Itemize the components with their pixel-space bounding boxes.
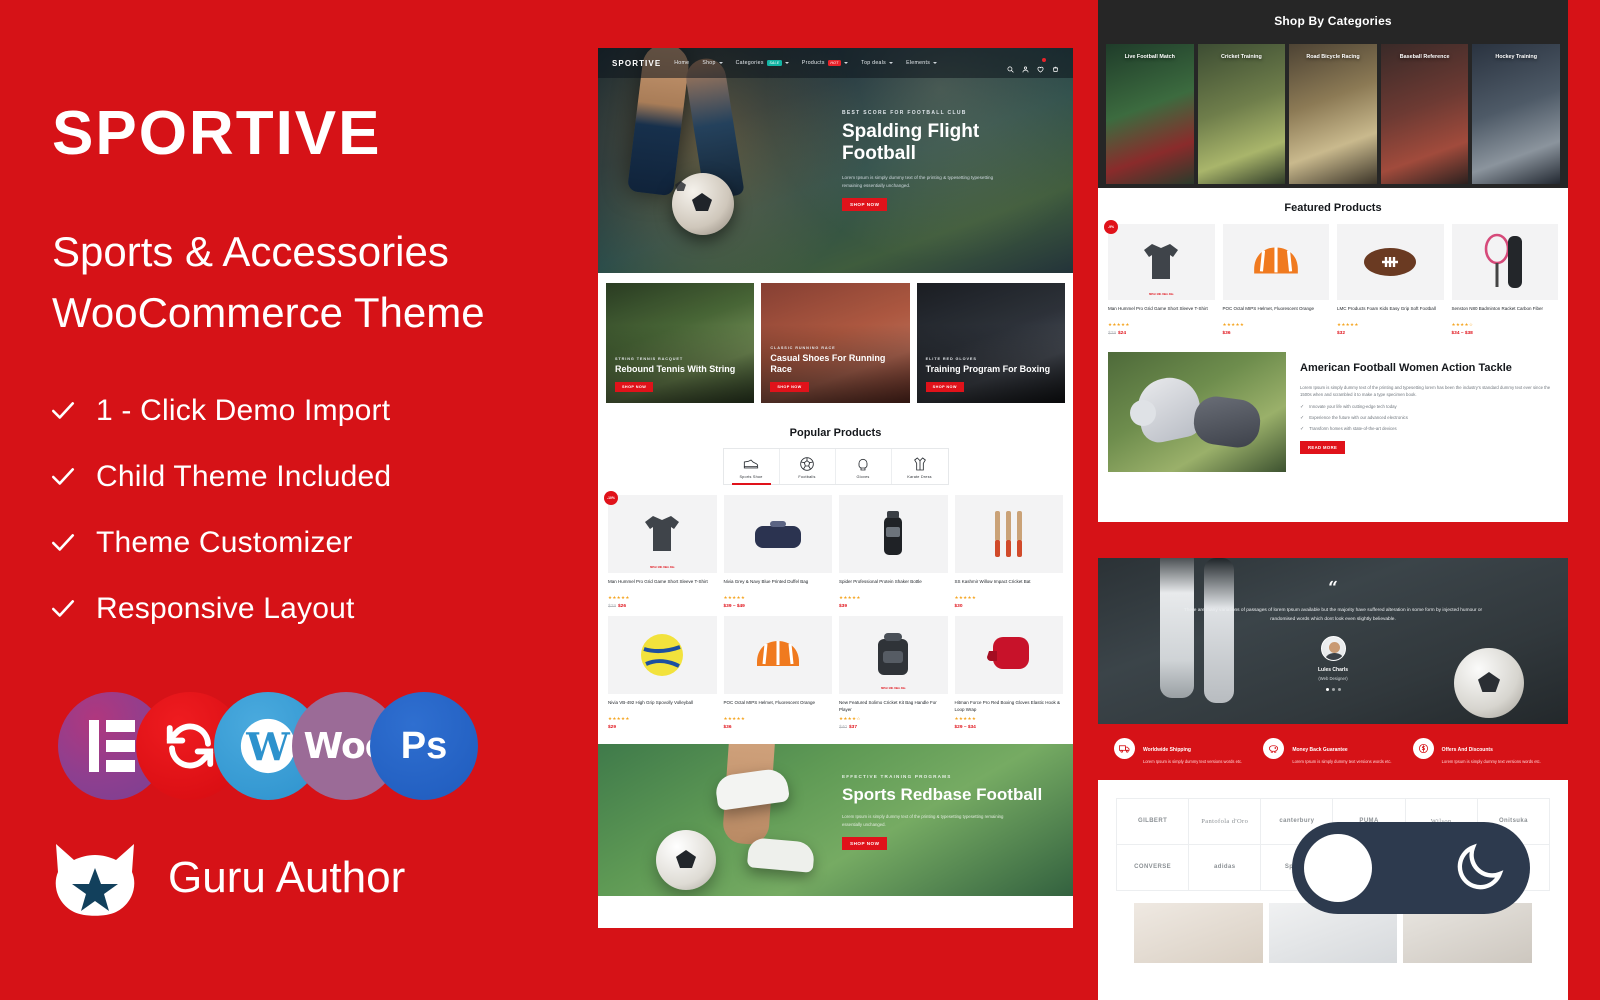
- testimonial-preview[interactable]: “ There are many variations of passages …: [1098, 558, 1568, 1000]
- banner-title: American Football Women Action Tackle: [1300, 362, 1552, 376]
- rating-stars: ★★★★★: [1223, 322, 1330, 328]
- rating-stars: ★★★★☆: [1452, 322, 1559, 328]
- site-logo[interactable]: SPORTIVE: [612, 59, 661, 68]
- category-row: Live Football Match Cricket Training Roa…: [1098, 28, 1568, 184]
- service-description: Lorem Ipsum is simply dummy text version…: [1143, 759, 1242, 766]
- promo-kicker: CLASSIC RUNNING RACE: [770, 346, 901, 350]
- truck-icon: [1114, 738, 1135, 759]
- shop-by-categories-section: Shop By Categories Live Football Match C…: [1098, 0, 1568, 188]
- wishlist-count-dot: [1042, 58, 1046, 62]
- sale-badge: SALE: [767, 60, 782, 66]
- banner-image: [1108, 352, 1286, 472]
- hero-banner: BEST SCORE FOR FOOTBALL CLUB Spalding Fl…: [598, 48, 1073, 273]
- product-name: LMC Products Foam Kids Easy Grip Soft Fo…: [1337, 306, 1444, 319]
- promo-kicker: ELITE RED GLOVES: [926, 357, 1057, 361]
- product-name: Hitman Force Pro Red Boxing Gloves Elast…: [955, 700, 1064, 713]
- product-card[interactable]: 605d 10h 09m 49s New Featured Solimo Cri…: [839, 616, 948, 730]
- nav-label: Home: [674, 60, 689, 66]
- promo-card[interactable]: STRING TENNIS RACQUET Rebound Tennis Wit…: [606, 283, 754, 403]
- dark-mode-toggle[interactable]: [1292, 822, 1530, 914]
- football-icon: [782, 455, 833, 472]
- chevron-down-icon: [719, 62, 723, 64]
- product-thumbnail: [955, 616, 1064, 694]
- feature-label: Theme Customizer: [96, 526, 353, 560]
- hero-title: Spalding Flight Football: [842, 121, 1057, 166]
- product-thumbnail: [955, 495, 1064, 573]
- nav-label: Products: [802, 60, 825, 66]
- list-item: ✓Experience the future with our advanced…: [1300, 415, 1552, 421]
- promo-kicker: STRING TENNIS RACQUET: [615, 357, 746, 361]
- tab-label: Karate Dress: [894, 475, 946, 479]
- product-thumbnail: -9% 605d 10h 09m 49s: [1108, 224, 1215, 300]
- categories-title: Shop By Categories: [1098, 14, 1568, 28]
- cta-title: Sports Redbase Football: [842, 785, 1057, 805]
- rating-stars: ★★★★★: [724, 716, 833, 722]
- promo-shop-now-button[interactable]: SHOP NOW: [770, 382, 808, 392]
- countdown-value: 605d 10h 09m 49s: [881, 686, 906, 690]
- author-label: Guru Author: [168, 853, 405, 903]
- category-label: Hockey Training: [1472, 54, 1560, 60]
- list-item: ✓Transform homes with state-of-the-art d…: [1300, 426, 1552, 432]
- nav-item-top-deals[interactable]: Top deals: [861, 60, 893, 66]
- promo-title: Casual Shoes For Running Race: [770, 353, 901, 375]
- tab-label: Sports Shoe: [726, 475, 777, 479]
- product-name: Man Hummel Pro Grid Game Short Sleeve T-…: [608, 579, 717, 592]
- product-card[interactable]: Senston N80 Badminton Racket Carbon Fibe…: [1452, 224, 1559, 336]
- moon-icon: [1450, 839, 1508, 897]
- left-info-panel: SPORTIVE Sports & Accessories WooCommerc…: [0, 0, 598, 1000]
- promo-card[interactable]: ELITE RED GLOVES Training Program For Bo…: [917, 283, 1065, 403]
- tab-label: Footballs: [782, 475, 833, 479]
- hot-badge: HOT: [828, 60, 841, 66]
- chevron-down-icon: [844, 62, 848, 64]
- carousel-dot[interactable]: [1326, 688, 1329, 691]
- cta-shoe-illustration: [714, 767, 790, 811]
- feature-label: 1 - Click Demo Import: [96, 394, 390, 428]
- check-icon: [50, 398, 76, 424]
- search-icon[interactable]: [1007, 60, 1014, 67]
- list-item: Theme Customizer: [50, 510, 570, 576]
- discount-icon: [1413, 738, 1434, 759]
- product-name: POC Octal MIPS Helmet, Fluorescent Orang…: [724, 700, 833, 713]
- product-name: SS Kashmir Willow Impact Cricket Bat: [955, 579, 1064, 592]
- brand-logo[interactable]: CONVERSE: [1117, 845, 1189, 891]
- promo-card-row: STRING TENNIS RACQUET Rebound Tennis Wit…: [598, 273, 1073, 413]
- cta-copy: EFFECTIVE TRAINING PROGRAMS Sports Redba…: [842, 774, 1057, 850]
- product-name: Nivia Grey & Navy Blue Printed Duffel Ba…: [724, 579, 833, 592]
- piggy-bank-icon: [1263, 738, 1284, 759]
- banner-copy: American Football Women Action Tackle Lo…: [1286, 352, 1558, 472]
- rating-stars: ★★★★★: [839, 595, 948, 601]
- product-name: Spider Professional Protein Shaker Bottl…: [839, 579, 948, 592]
- category-card[interactable]: Cricket Training: [1198, 44, 1286, 184]
- product-thumbnail: [608, 616, 717, 694]
- rating-stars: ★★★★★: [608, 595, 717, 601]
- cart-icon[interactable]: [1052, 60, 1059, 67]
- feature-list: 1 - Click Demo Import Child Theme Includ…: [50, 378, 570, 642]
- service-description: Lorem Ipsum is simply dummy text version…: [1442, 759, 1541, 766]
- rating-stars: ★★★★★: [608, 716, 717, 722]
- current-price: $26: [618, 604, 626, 609]
- account-icon[interactable]: [1022, 60, 1029, 67]
- product-card[interactable]: SS Kashmir Willow Impact Cricket Bat ★★★…: [955, 495, 1064, 609]
- product-card[interactable]: -9% 605d 10h 09m 49s Man Hummel Pro Grid…: [1108, 224, 1215, 336]
- nav-label: Shop: [702, 60, 715, 66]
- page-subtitle: Sports & Accessories WooCommerce Theme: [52, 222, 572, 344]
- product-category-tabs: Sports Shoe Footballs Gloves Karate Dres…: [598, 448, 1073, 485]
- product-price: $29 – $34: [955, 725, 1064, 730]
- ps-label: Ps: [401, 725, 447, 768]
- product-price: $39 – $49: [724, 604, 833, 609]
- promo-shop-now-button[interactable]: SHOP NOW: [926, 382, 964, 392]
- brand-logo[interactable]: adidas: [1189, 845, 1261, 891]
- read-more-button[interactable]: READ MORE: [1300, 441, 1345, 454]
- tab-footballs[interactable]: Footballs: [780, 449, 836, 484]
- product-card[interactable]: POC Octal MIPS Helmet, Fluorescent Orang…: [1223, 224, 1330, 336]
- product-thumbnail: [1452, 224, 1559, 300]
- product-name: New Featured Solimo Cricket Kit Bag Hand…: [839, 700, 948, 713]
- carousel-dots[interactable]: [1326, 688, 1341, 691]
- testimonial-role: (Web Designer): [1318, 676, 1347, 681]
- promo-copy: CLASSIC RUNNING RACE Casual Shoes For Ru…: [770, 346, 901, 393]
- category-card[interactable]: Road Bicycle Racing: [1289, 44, 1377, 184]
- sale-badge: -9%: [1104, 220, 1118, 234]
- chevron-down-icon: [933, 62, 937, 64]
- category-card[interactable]: Hockey Training: [1472, 44, 1560, 184]
- service-item: Money Back Guarantee Lorem Ipsum is simp…: [1263, 738, 1402, 766]
- check-icon: [50, 596, 76, 622]
- homepage-preview[interactable]: SPORTIVE Home Shop CategoriesSALE Produc…: [598, 48, 1073, 928]
- list-item: Responsive Layout: [50, 576, 570, 642]
- testimonial-name: Lules Charls: [1318, 667, 1348, 673]
- cta-football-illustration: [656, 830, 716, 890]
- rating-stars: ★★★★★: [1337, 322, 1444, 328]
- category-label: Road Bicycle Racing: [1289, 54, 1377, 60]
- current-price: $24: [1118, 331, 1126, 336]
- envato-cat-icon: [48, 838, 142, 918]
- product-thumbnail: [724, 616, 833, 694]
- old-price: $29: [1108, 331, 1116, 336]
- product-price: $29$26: [608, 604, 717, 609]
- check-icon: [50, 464, 76, 490]
- product-name: Nivia VB-492 High Grip Spovolly Volleyba…: [608, 700, 717, 713]
- rating-stars: ★★★★★: [724, 595, 833, 601]
- product-price: $36: [724, 725, 833, 730]
- category-card[interactable]: Live Football Match: [1106, 44, 1194, 184]
- product-thumbnail: [1223, 224, 1330, 300]
- check-label: Innovate your life with cutting-edge tec…: [1309, 404, 1396, 409]
- service-title: Money Back Guarantee: [1292, 747, 1347, 753]
- photoshop-icon: Ps: [370, 692, 478, 800]
- testimonial-section: “ There are many variations of passages …: [1098, 558, 1568, 724]
- promo-title: Training Program For Boxing: [926, 364, 1057, 375]
- featured-products-grid: -9% 605d 10h 09m 49s Man Hummel Pro Grid…: [1098, 224, 1568, 348]
- svg-text:W: W: [245, 725, 290, 770]
- nav-item-categories[interactable]: CategoriesSALE: [736, 60, 789, 66]
- hero-shop-now-button[interactable]: SHOP NOW: [842, 198, 887, 211]
- list-item: 1 - Click Demo Import: [50, 378, 570, 444]
- promo-title: Rebound Tennis With String: [615, 364, 746, 375]
- product-thumbnail: [1337, 224, 1444, 300]
- product-card[interactable]: Spider Professional Protein Shaker Bottl…: [839, 495, 948, 609]
- tab-label: Gloves: [838, 475, 889, 479]
- check-icon: ✓: [1300, 426, 1304, 432]
- rating-stars: ★★★★★: [955, 716, 1064, 722]
- product-thumbnail: [839, 495, 948, 573]
- cta-shoe2-illustration: [747, 837, 815, 873]
- check-icon: [50, 530, 76, 556]
- category-label: Cricket Training: [1198, 54, 1286, 60]
- brand-logo[interactable]: Pantofola d'Oro: [1189, 799, 1261, 845]
- hero-description: Lorem Ipsum is simply dummy text of the …: [842, 174, 1012, 190]
- check-icon: ✓: [1300, 415, 1304, 421]
- karate-icon: [894, 455, 946, 472]
- old-price: $29: [608, 604, 616, 609]
- nav-label: Elements: [906, 60, 930, 66]
- tab-sports-shoe[interactable]: Sports Shoe: [724, 449, 780, 484]
- product-card[interactable]: POC Octal MIPS Helmet, Fluorescent Orang…: [724, 616, 833, 730]
- testimonial-quote: There are many variations of passages of…: [1183, 606, 1483, 624]
- product-name: Man Hummel Pro Grid Game Short Sleeve T-…: [1108, 306, 1215, 319]
- service-item: Offers And Discounts Lorem Ipsum is simp…: [1413, 738, 1552, 766]
- hero-kicker: BEST SCORE FOR FOOTBALL CLUB: [842, 110, 1057, 116]
- tab-gloves[interactable]: Gloves: [836, 449, 892, 484]
- product-price: $32: [1337, 331, 1444, 336]
- carousel-dot[interactable]: [1332, 688, 1335, 691]
- product-card[interactable]: -10% 605d 10h 09m 49s Man Hummel Pro Gri…: [608, 495, 717, 609]
- product-price: $40$37: [839, 725, 948, 730]
- feature-banner: American Football Women Action Tackle Lo…: [1108, 352, 1558, 472]
- nav-item-elements[interactable]: Elements: [906, 60, 937, 66]
- list-item: ✓Innovate your life with cutting-edge te…: [1300, 404, 1552, 410]
- promo-copy: ELITE RED GLOVES Training Program For Bo…: [926, 357, 1057, 393]
- product-price: $34 – $38: [1452, 331, 1559, 336]
- countdown-timer: 605d 10h 09m 49s: [839, 686, 948, 690]
- promo-shop-now-button[interactable]: SHOP NOW: [615, 382, 653, 392]
- service-description: Lorem Ipsum is simply dummy text version…: [1292, 759, 1391, 766]
- countdown-value: 605d 10h 09m 49s: [650, 565, 675, 569]
- cta-description: Lorem Ipsum is simply dummy text of the …: [842, 813, 1010, 828]
- page-title: SPORTIVE: [52, 98, 382, 169]
- service-item: Worldwide Shipping Lorem Ipsum is simply…: [1114, 738, 1253, 766]
- wishlist-icon[interactable]: [1037, 60, 1044, 67]
- category-card[interactable]: Baseball Reference: [1381, 44, 1469, 184]
- tab-karate-dress[interactable]: Karate Dress: [892, 449, 948, 484]
- nav-label: Top deals: [861, 60, 886, 66]
- check-icon: ✓: [1300, 404, 1304, 410]
- glove-icon: [838, 455, 889, 472]
- rating-stars: ★★★★★: [955, 595, 1064, 601]
- feature-label: Child Theme Included: [96, 460, 391, 494]
- featured-products-title: Featured Products: [1098, 188, 1568, 224]
- product-price: $30: [955, 604, 1064, 609]
- product-name: POC Octal MIPS Helmet, Fluorescent Orang…: [1223, 306, 1330, 319]
- product-card[interactable]: Nivia VB-492 High Grip Spovolly Volleyba…: [608, 616, 717, 730]
- quote-icon: “: [1328, 580, 1338, 597]
- product-card[interactable]: LMC Products Foam Kids Easy Grip Soft Fo…: [1337, 224, 1444, 336]
- category-label: Live Football Match: [1106, 54, 1194, 60]
- toggle-knob[interactable]: [1304, 834, 1372, 902]
- feature-label: Responsive Layout: [96, 592, 355, 626]
- header-icon-group: [1007, 60, 1059, 67]
- rating-stars: ★★★★★: [1108, 322, 1215, 328]
- product-price: $29: [608, 725, 717, 730]
- football-illustration: [672, 173, 734, 235]
- carousel-dot[interactable]: [1338, 688, 1341, 691]
- popular-products-title: Popular Products: [598, 413, 1073, 448]
- promo-copy: STRING TENNIS RACQUET Rebound Tennis Wit…: [615, 357, 746, 393]
- product-price: $36: [1223, 331, 1330, 336]
- chevron-down-icon: [889, 62, 893, 64]
- countdown-timer: 605d 10h 09m 49s: [1108, 292, 1215, 296]
- sale-badge: -10%: [604, 491, 618, 505]
- product-thumbnail: [724, 495, 833, 573]
- service-title: Worldwide Shipping: [1143, 747, 1191, 753]
- popular-products-grid: -10% 605d 10h 09m 49s Man Hummel Pro Gri…: [598, 495, 1073, 742]
- avatar: [1321, 636, 1346, 661]
- old-price: $40: [839, 725, 847, 730]
- promo-card[interactable]: CLASSIC RUNNING RACE Casual Shoes For Ru…: [761, 283, 909, 403]
- poster-canvas: SPORTIVE Sports & Accessories WooCommerc…: [0, 0, 1600, 1000]
- rating-stars: ★★★★☆: [839, 716, 948, 722]
- banner-description: Lorem Ipsum is simply dummy text of the …: [1300, 384, 1552, 399]
- countdown-value: 605d 10h 09m 49s: [1149, 292, 1174, 296]
- product-card[interactable]: Hitman Force Pro Red Boxing Gloves Elast…: [955, 616, 1064, 730]
- author-badge: Guru Author: [48, 838, 405, 918]
- product-price: $29$24: [1108, 331, 1215, 336]
- cta-shop-now-button[interactable]: SHOP NOW: [842, 837, 887, 850]
- blog-card[interactable]: [1134, 903, 1263, 963]
- shoe-icon: [726, 455, 777, 472]
- player2-illustration: [1191, 394, 1263, 451]
- nav-label: Categories: [736, 60, 764, 66]
- nav-item-products[interactable]: ProductsHOT: [802, 60, 848, 66]
- countdown-timer: 605d 10h 09m 49s: [608, 565, 717, 569]
- product-card[interactable]: Nivia Grey & Navy Blue Printed Duffel Ba…: [724, 495, 833, 609]
- product-price: $39: [839, 604, 948, 609]
- product-thumbnail: 605d 10h 09m 49s: [839, 616, 948, 694]
- site-header: SPORTIVE Home Shop CategoriesSALE Produc…: [598, 48, 1073, 78]
- product-thumbnail: -10% 605d 10h 09m 49s: [608, 495, 717, 573]
- check-label: Transform homes with state-of-the-art de…: [1309, 426, 1396, 431]
- nav-item-shop[interactable]: Shop: [702, 60, 722, 66]
- product-name: Senston N80 Badminton Racket Carbon Fibe…: [1452, 306, 1559, 319]
- categories-preview[interactable]: Shop By Categories Live Football Match C…: [1098, 0, 1568, 522]
- brand-logo[interactable]: GILBERT: [1117, 799, 1189, 845]
- list-item: Child Theme Included: [50, 444, 570, 510]
- service-title: Offers And Discounts: [1442, 747, 1493, 753]
- nav-item-home[interactable]: Home: [674, 60, 689, 66]
- check-label: Experience the future with our advanced …: [1309, 415, 1408, 420]
- cta-banner: EFFECTIVE TRAINING PROGRAMS Sports Redba…: [598, 744, 1073, 896]
- helmet-illustration: [1130, 400, 1156, 426]
- category-label: Baseball Reference: [1381, 54, 1469, 60]
- hero-copy: BEST SCORE FOR FOOTBALL CLUB Spalding Fl…: [842, 110, 1057, 211]
- services-strip: Worldwide Shipping Lorem Ipsum is simply…: [1098, 724, 1568, 780]
- cta-kicker: EFFECTIVE TRAINING PROGRAMS: [842, 774, 1057, 779]
- chevron-down-icon: [785, 62, 789, 64]
- current-price: $37: [849, 725, 857, 730]
